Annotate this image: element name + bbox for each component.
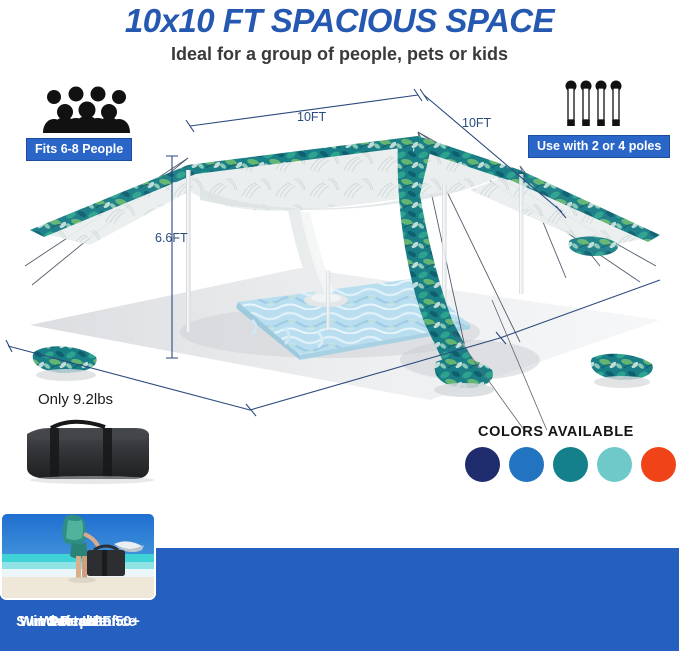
canopy-tent-illustration xyxy=(0,70,679,430)
color-swatch-orange-red[interactable] xyxy=(641,447,676,482)
page-title: 10x10 FT SPACIOUS SPACE xyxy=(0,2,679,40)
dimension-height-label: 6.6FT xyxy=(155,231,188,245)
product-infographic: 10x10 FT SPACIOUS SPACE Ideal for a grou… xyxy=(0,0,679,651)
bag-weight-label: Only 9.2lbs xyxy=(38,391,113,408)
duffel-bag-icon xyxy=(17,412,167,487)
feature-image-portable xyxy=(0,512,156,600)
feature-label-portable: Portable xyxy=(0,614,156,630)
dimension-width-label: 10FT xyxy=(297,110,326,124)
feature-portable: Portable xyxy=(0,512,156,651)
color-swatch-blue[interactable] xyxy=(509,447,544,482)
colors-available-title: COLORS AVAILABLE xyxy=(478,424,634,440)
dimension-depth-label: 10FT xyxy=(462,116,491,130)
color-swatch-row xyxy=(465,447,676,482)
page-subtitle: Ideal for a group of people, pets or kid… xyxy=(0,44,679,65)
color-swatch-navy[interactable] xyxy=(465,447,500,482)
color-swatch-teal[interactable] xyxy=(553,447,588,482)
color-swatch-aqua[interactable] xyxy=(597,447,632,482)
